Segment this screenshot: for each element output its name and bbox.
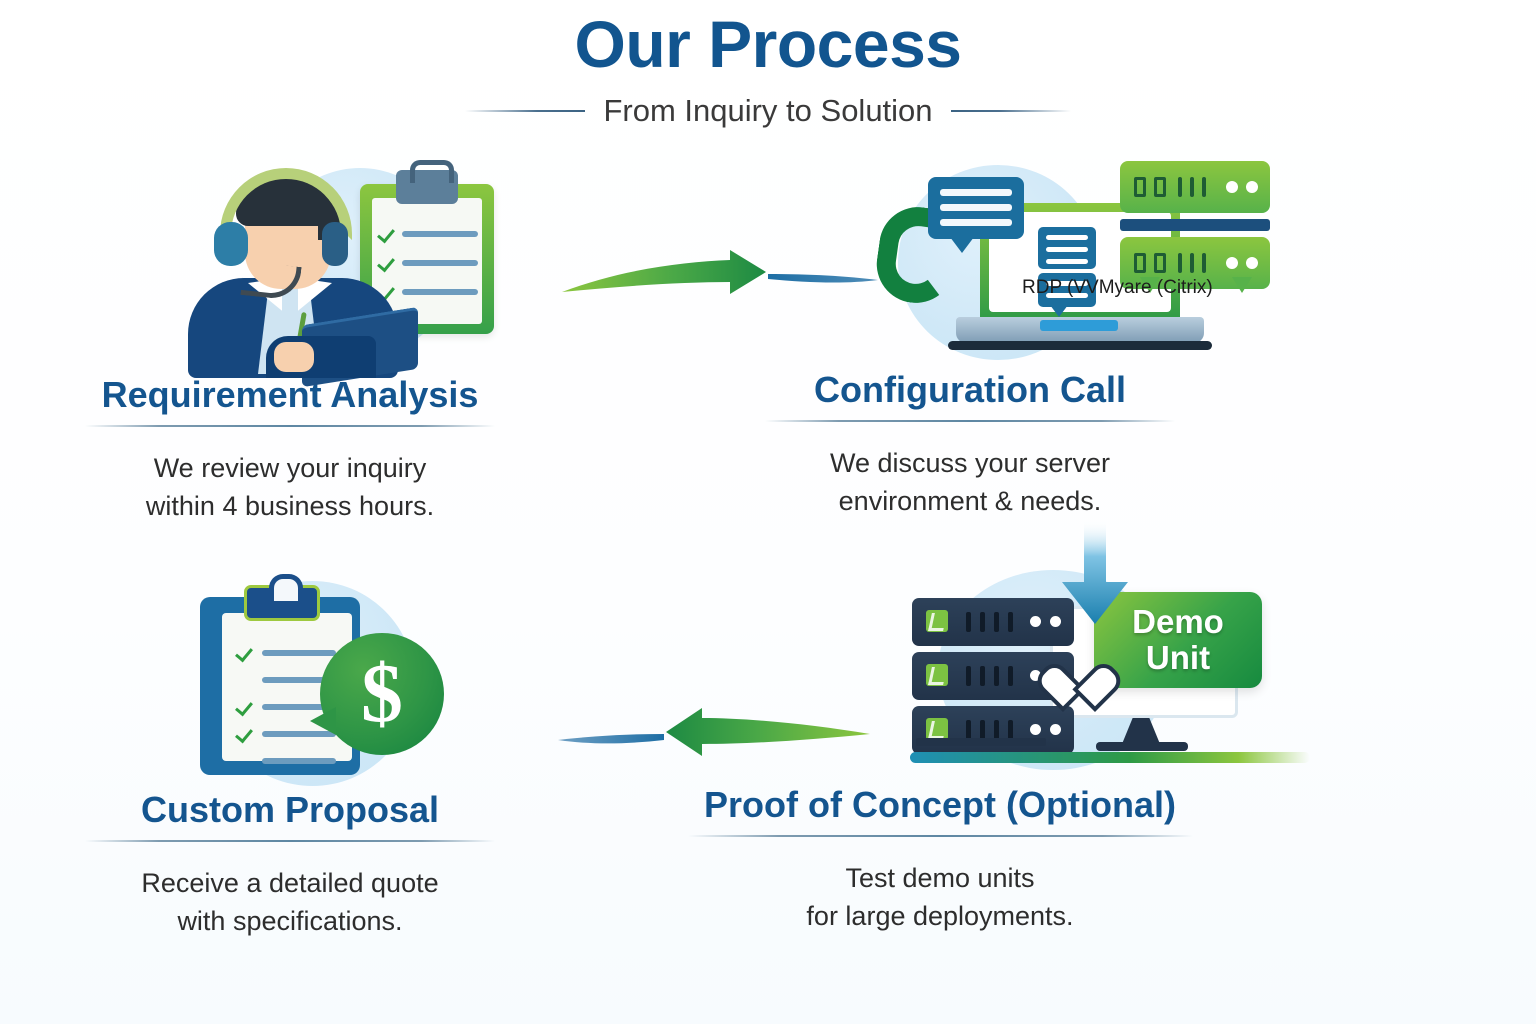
laptop-foot [948, 341, 1212, 350]
page-title: Our Process [0, 10, 1536, 79]
monitor-stand [1096, 742, 1188, 751]
clipboard-clip-icon [396, 170, 458, 204]
bubble-tail [1232, 277, 1252, 293]
rack-feet [916, 738, 1046, 746]
subtitle-row: From Inquiry to Solution [0, 93, 1536, 129]
rack-slot [966, 666, 971, 686]
drive-bay-icon [1154, 253, 1166, 273]
arrow-body [562, 250, 766, 294]
arrow-tail [768, 274, 878, 283]
step-4-description: Test demo units for large deployments. [660, 859, 1220, 936]
doc-line [1046, 235, 1088, 240]
step-2-description-line-1: We discuss your server [690, 444, 1250, 482]
dollar-bubble-icon: $ [320, 633, 444, 755]
rack-status-icon [926, 664, 948, 686]
checklist-row [378, 226, 478, 242]
rack-slot [1008, 720, 1013, 740]
agent-hand [274, 342, 314, 372]
step-2-description: We discuss your server environment & nee… [690, 444, 1250, 521]
server-unit [1120, 161, 1270, 213]
server-slot [1202, 177, 1206, 197]
step-4-title: Proof of Concept (Optional) [660, 785, 1220, 825]
doc-line [1046, 247, 1088, 252]
step-1-title: Requirement Analysis [10, 375, 570, 415]
bubble-line [940, 219, 1012, 226]
step-4-divider [688, 835, 1193, 837]
checkmark-icon [378, 255, 394, 271]
step-1-description-line-1: We review your inquiry [10, 449, 570, 487]
chat-bubble-icon [928, 177, 1024, 239]
status-led-icon [1246, 257, 1258, 269]
headset-earcup-right-icon [322, 222, 348, 266]
clipboard-clip-icon [244, 585, 320, 621]
drive-bay-icon [1134, 177, 1146, 197]
step-custom-proposal: $ Custom Proposal Receive a detailed quo… [10, 575, 570, 940]
checkmark-icon [378, 226, 394, 242]
step-3-description-line-1: Receive a detailed quote [10, 864, 570, 902]
arrow-right-icon [560, 248, 880, 320]
drive-bay-icon [1134, 253, 1146, 273]
arrow-body [666, 708, 870, 756]
step-3-illustration: $ [10, 575, 570, 790]
rack-slot [1008, 666, 1013, 686]
rack-slot [980, 720, 985, 740]
rack-slot [1008, 612, 1013, 632]
checklist-row [378, 284, 478, 300]
bubble-line [940, 204, 1012, 211]
rack-status-icon [926, 718, 948, 740]
step-3-divider [85, 840, 495, 842]
rack-slot [980, 666, 985, 686]
dollar-sign: $ [320, 633, 444, 755]
status-led-icon [1226, 181, 1238, 193]
checklist-row [236, 753, 336, 769]
step-3-description: Receive a detailed quote with specificat… [10, 864, 570, 941]
server-slot [1190, 177, 1194, 197]
drive-bay-icon [1154, 177, 1166, 197]
server-slot [1190, 253, 1194, 273]
step-1-description: We review your inquiry within 4 business… [10, 449, 570, 526]
rack-status-icon [926, 610, 948, 632]
page-subtitle: From Inquiry to Solution [603, 93, 932, 129]
rack-slot [994, 666, 999, 686]
subtitle-rule-left [465, 110, 585, 112]
checkmark-icon [236, 726, 252, 742]
step-1-description-line-2: within 4 business hours. [10, 487, 570, 525]
step-2-title: Configuration Call [690, 370, 1250, 410]
checkmark-icon [236, 699, 252, 715]
server-slot [1178, 253, 1182, 273]
step-3-description-line-2: with specifications. [10, 902, 570, 940]
infographic-canvas: Our Process From Inquiry to Solution [0, 0, 1536, 1024]
step-4-description-line-1: Test demo units [660, 859, 1220, 897]
subtitle-rule-right [951, 110, 1071, 112]
step-1-divider [85, 425, 495, 427]
step-4-description-line-2: for large deployments. [660, 897, 1220, 935]
rack-slot [980, 612, 985, 632]
list-line [402, 231, 478, 237]
arrow-down-icon [1040, 520, 1150, 630]
status-led-icon [1246, 181, 1258, 193]
rack-led-icon [1030, 724, 1041, 735]
server-divider [1120, 219, 1270, 231]
checklist-rows [378, 226, 478, 313]
step-3-title: Custom Proposal [10, 790, 570, 830]
headset-earcup-left-icon [214, 222, 248, 266]
doc-line [1046, 259, 1088, 264]
step-requirement-analysis: Requirement Analysis We review your inqu… [10, 160, 570, 525]
rack-slot [994, 720, 999, 740]
server-stack-icon [1120, 161, 1270, 281]
step-2-description-line-2: environment & needs. [690, 482, 1250, 520]
rack-led-icon [1050, 724, 1061, 735]
bubble-line [940, 189, 1012, 196]
step-1-illustration [10, 160, 570, 375]
rack-slot [994, 612, 999, 632]
checkmark-icon [236, 645, 252, 661]
rack-slot [966, 612, 971, 632]
floor-accent-bar [910, 752, 1310, 763]
list-line [402, 260, 478, 266]
rack-unit [912, 706, 1074, 754]
checklist-row [378, 255, 478, 271]
list-line [262, 758, 336, 764]
demo-badge-line-2: Unit [1146, 639, 1210, 676]
heart-icon [1050, 662, 1098, 706]
arrow-left-icon [552, 706, 872, 784]
arrow-body [1062, 520, 1128, 624]
step-configuration-call: RDP (VVMyare (Citrix) Configuration Call… [690, 155, 1250, 520]
server-slot [1202, 253, 1206, 273]
header: Our Process From Inquiry to Solution [0, 10, 1536, 129]
step-2-divider [765, 420, 1175, 422]
server-slot [1178, 177, 1182, 197]
laptop-base [956, 317, 1204, 343]
rack-slot [966, 720, 971, 740]
arrow-tail [558, 734, 664, 743]
list-line [402, 289, 478, 295]
status-led-icon [1226, 257, 1238, 269]
protocol-label: RDP (VVMyare (Citrix) [1022, 277, 1213, 299]
